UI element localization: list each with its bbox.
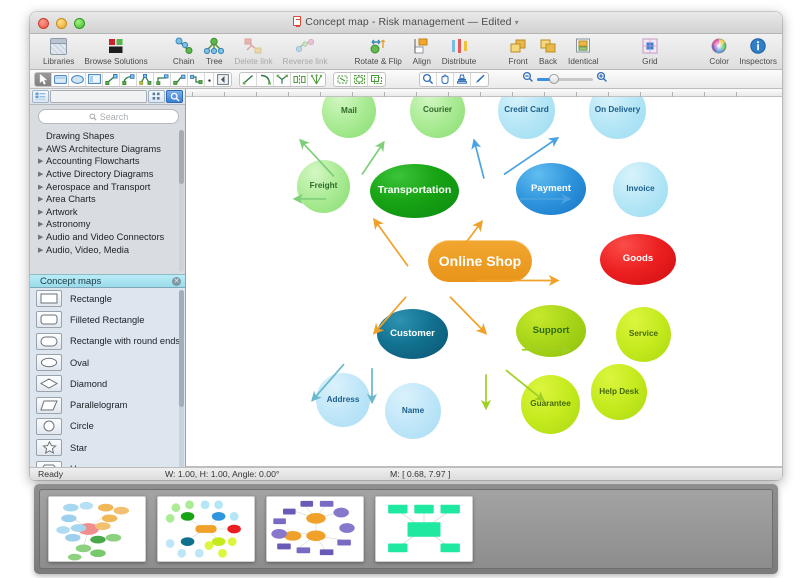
chain-button[interactable]: Chain [168, 36, 199, 66]
chain-icon [174, 36, 194, 56]
color-button[interactable]: Color [704, 36, 734, 66]
document-tray-inner [39, 489, 773, 569]
sidebar-scrollbar[interactable] [179, 130, 184, 272]
library-tree-item[interactable]: ▶Audio, Video, Media [30, 243, 185, 256]
color-wheel-icon [710, 36, 728, 56]
tree-icon [204, 36, 224, 56]
active-library-title: Concept maps [40, 276, 172, 287]
distribute-button[interactable]: Distribute [437, 36, 482, 66]
diagram-node-label: Guarantee [527, 400, 574, 409]
intersect-icon[interactable] [351, 72, 368, 87]
library-tree-item[interactable]: ▶Active Directory Diagrams [30, 168, 185, 181]
send-back-icon [538, 36, 558, 56]
delete-link-icon [243, 36, 263, 56]
shape-list-item-label: Rectangle with round ends [70, 336, 180, 346]
shape-ops-group [333, 72, 386, 87]
toolbar-group-arrange: Rotate & Flip Align [349, 36, 481, 66]
tree-button[interactable]: Tree [199, 36, 229, 66]
magnifier-icon[interactable] [420, 72, 437, 87]
chevron-right-icon[interactable]: ▶ [38, 220, 46, 228]
search-placeholder: Search [100, 112, 129, 122]
send-back-button[interactable]: Back [533, 36, 563, 66]
thumbnail-concept-map-2[interactable] [157, 496, 255, 562]
chevron-right-icon[interactable]: ▶ [38, 233, 46, 241]
chevron-right-icon[interactable]: ▶ [38, 145, 46, 153]
oval-shape-icon [36, 354, 62, 371]
toolbar-group-order: Front Back [503, 36, 604, 66]
close-icon[interactable]: ✕ [172, 277, 181, 286]
diagram-node-label: Help Desk [596, 388, 642, 397]
connector-links [186, 97, 782, 466]
libraries-label: Libraries [43, 57, 74, 66]
chain-label: Chain [173, 57, 194, 66]
thumbnail-concept-map-1[interactable] [48, 496, 146, 562]
status-dimensions: W: 1.00, H: 1.00, Angle: 0.00° [165, 469, 390, 479]
diagram-node-label: Online Shop [436, 254, 524, 269]
screen-root: Concept map - Risk management — Edited▾ … [0, 0, 800, 578]
arc-icon[interactable] [257, 72, 274, 87]
ellipse-tool-icon[interactable] [69, 72, 86, 87]
shapes-sidebar: Search Drawing Shapes▶AWS Architecture D… [30, 89, 186, 480]
browse-solutions-icon [107, 36, 125, 56]
union-icon[interactable] [334, 72, 351, 87]
identical-label: Identical [568, 57, 599, 66]
shape-list-item[interactable]: Parallelogram [30, 394, 185, 415]
status-mouse-coords: M: [ 0.68, 7.97 ] [390, 469, 450, 479]
diagram-node-label: Address [324, 396, 363, 405]
eyedropper-icon[interactable] [471, 72, 488, 87]
library-tree-item-label: Aerospace and Transport [46, 182, 150, 192]
tree-view-icon[interactable] [32, 90, 49, 103]
star-shape-icon [36, 439, 62, 456]
inspectors-button[interactable]: Inspectors [734, 36, 782, 66]
library-tree-item[interactable]: ▶Artwork [30, 206, 185, 219]
status-bar: Ready W: 1.00, H: 1.00, Angle: 0.00° M: … [30, 467, 782, 480]
diamond-shape-icon [36, 375, 62, 392]
application-window: Concept map - Risk management — Edited▾ … [30, 12, 782, 480]
diagram-node-label: Name [399, 407, 427, 416]
reverse-link-label: Reverse link [283, 57, 328, 66]
window-body: Search Drawing Shapes▶AWS Architecture D… [30, 89, 782, 480]
diagram-canvas[interactable]: MailCourierFreightTransportationCredit C… [186, 97, 782, 466]
library-tree-item-label: Astronomy [46, 219, 90, 229]
elbow-connector-icon[interactable] [154, 72, 171, 87]
send-back-label: Back [539, 57, 557, 66]
shape-list-item[interactable]: Oval [30, 352, 185, 373]
chevron-right-icon[interactable]: ▶ [38, 246, 46, 254]
chevron-right-icon[interactable]: ▶ [38, 170, 46, 178]
diagram-node-label: Freight [307, 182, 341, 191]
main-toolbar: Libraries Browse Solutions [30, 34, 782, 70]
browse-solutions-label: Browse Solutions [84, 57, 147, 66]
shape-list-item[interactable]: Diamond [30, 373, 185, 394]
search-icon[interactable] [166, 90, 183, 103]
diagram-node-label: Credit Card [501, 106, 552, 115]
shape-list-item[interactable]: Filleted Rectangle [30, 309, 185, 330]
toolbar-group-grid: Grid [635, 36, 665, 66]
bezier-connector-icon[interactable] [171, 72, 188, 87]
active-library-bar[interactable]: Concept maps ✕ [30, 274, 185, 288]
sidebar-search-wrap: Search [30, 105, 185, 128]
library-tree-item[interactable]: ▶AWS Architecture Diagrams [30, 143, 185, 156]
mirror-icon[interactable] [291, 72, 308, 87]
window-title: Concept map - Risk management — Edited▾ [30, 16, 782, 28]
rotate-flip-label: Rotate & Flip [354, 57, 401, 66]
rectangle-shape-icon [36, 290, 62, 307]
library-tree-item[interactable]: ▶Astronomy [30, 218, 185, 231]
library-tree-item-label: AWS Architecture Diagrams [46, 144, 161, 154]
diagram-node-label: Courier [420, 106, 455, 115]
shapes-scrollbar[interactable] [179, 290, 184, 478]
thumbnail-concept-map-4[interactable] [375, 496, 473, 562]
library-tree-item[interactable]: ▶Area Charts [30, 193, 185, 206]
align-icon [412, 36, 432, 56]
inspectors-label: Inspectors [739, 57, 777, 66]
search-input[interactable]: Search [38, 109, 179, 124]
distribute-label: Distribute [442, 57, 477, 66]
sidebar-path-field[interactable] [50, 90, 147, 103]
branch-icon[interactable] [274, 72, 291, 87]
subtract-icon[interactable] [368, 72, 385, 87]
diagram-node-label: Payment [528, 184, 574, 194]
toolbar-group-utilities: Color Inspectors [704, 36, 782, 66]
table-tool-icon[interactable] [86, 72, 103, 87]
library-tree-item-label: Drawing Shapes [46, 131, 114, 141]
grid-view-icon[interactable] [148, 90, 165, 103]
window-title-text: Concept map - Risk management [305, 16, 464, 28]
bring-front-icon [508, 36, 528, 56]
distribute-icon [449, 36, 469, 56]
delete-link-label: Delete link [234, 57, 272, 66]
bring-front-label: Front [508, 57, 527, 66]
identical-icon [573, 36, 593, 56]
dot-icon[interactable] [205, 72, 214, 87]
shapes-list[interactable]: RectangleFilleted RectangleRectangle wit… [30, 288, 185, 480]
grid-label: Grid [642, 57, 657, 66]
stamp-icon[interactable] [454, 72, 471, 87]
rotate-flip-icon [368, 36, 388, 56]
delete-link-button[interactable]: Delete link [229, 36, 277, 66]
shape-list-item-label: Oval [70, 358, 89, 368]
insert-image-icon[interactable] [214, 72, 231, 87]
libraries-icon [50, 36, 67, 56]
diagram-node-label: Support [530, 326, 573, 336]
library-tree-item-label: Active Directory Diagrams [46, 169, 153, 179]
diagram-node-label: On Delivery [592, 106, 644, 115]
align-button[interactable]: Align [407, 36, 437, 66]
drawing-toolstrip [30, 70, 782, 89]
zoom-slider-track[interactable] [537, 78, 593, 81]
identical-button[interactable]: Identical [563, 36, 604, 66]
shape-list-item-label: Filleted Rectangle [70, 315, 144, 325]
library-tree-item-label: Area Charts [46, 194, 96, 204]
shape-list-item[interactable]: Rectangle with round ends [30, 331, 185, 352]
document-tray [34, 484, 778, 574]
reverse-link-icon [295, 36, 315, 56]
smart-connector-icon[interactable] [188, 72, 205, 87]
reverse-link-button[interactable]: Reverse link [278, 36, 333, 66]
align-label: Align [413, 57, 431, 66]
grid-button[interactable]: Grid [635, 36, 665, 66]
zoom-slider-control[interactable] [522, 70, 608, 88]
hand-icon[interactable] [437, 72, 454, 87]
shapes-list-inner: RectangleFilleted RectangleRectangle wit… [30, 288, 185, 480]
shape-list-item-label: Star [70, 443, 87, 453]
library-tree-item-label: Artwork [46, 207, 78, 217]
chevron-right-icon[interactable]: ▶ [38, 208, 46, 216]
chevron-down-icon[interactable]: ▾ [515, 18, 519, 27]
tree-label: Tree [206, 57, 223, 66]
scatter-icon[interactable] [308, 72, 325, 87]
bring-front-button[interactable]: Front [503, 36, 533, 66]
select-arrow-icon[interactable] [35, 72, 52, 87]
status-state: Ready [30, 469, 165, 479]
curved-connector-icon[interactable] [120, 72, 137, 87]
library-tree-item-label: Audio, Video, Media [46, 245, 129, 255]
straight-connector-icon[interactable] [103, 72, 120, 87]
browse-solutions-button[interactable]: Browse Solutions [79, 36, 152, 66]
shape-list-item[interactable]: Circle [30, 416, 185, 437]
round-ends-rectangle-shape-icon [36, 333, 62, 350]
canvas-area: MailCourierFreightTransportationCredit C… [186, 89, 782, 480]
shape-list-item-label: Circle [70, 421, 94, 431]
diagram-node-label: Service [626, 330, 661, 339]
zoom-out-icon[interactable] [522, 70, 534, 88]
window-title-edited: — Edited [468, 16, 512, 28]
libraries-button[interactable]: Libraries [38, 36, 79, 66]
color-label: Color [709, 57, 729, 66]
chevron-right-icon[interactable]: ▶ [38, 157, 46, 165]
document-badge-icon [293, 16, 301, 26]
diagram-node-label: Invoice [623, 185, 657, 194]
view-tools-group [419, 72, 489, 87]
diagram-node-label: Mail [338, 107, 360, 116]
tree-connector-icon[interactable] [137, 72, 154, 87]
selection-tools-group [34, 72, 232, 87]
horizontal-ruler [186, 89, 782, 97]
info-inspectors-icon [749, 36, 767, 56]
zoom-slider-knob[interactable] [549, 74, 559, 84]
shape-list-item-label: Rectangle [70, 294, 112, 304]
zoom-in-icon[interactable] [596, 70, 608, 88]
library-tree-item-label: Audio and Video Connectors [46, 232, 164, 242]
shape-list-item-label: Diamond [70, 379, 107, 389]
library-tree-item[interactable]: ▶Accounting Flowcharts [30, 155, 185, 168]
diagram-node-label: Customer [387, 329, 438, 339]
chevron-right-icon[interactable]: ▶ [38, 183, 46, 191]
toolbar-group-links: Chain Tree [168, 36, 333, 66]
shape-list-item[interactable]: Rectangle [30, 288, 185, 309]
library-tree-item[interactable]: ▶Aerospace and Transport [30, 180, 185, 193]
diagram-node-label: Transportation [375, 185, 455, 196]
window-titlebar[interactable]: Concept map - Risk management — Edited▾ [30, 12, 782, 34]
rectangle-tool-icon[interactable] [52, 72, 69, 87]
thumbnail-concept-map-3[interactable] [266, 496, 364, 562]
shape-list-item[interactable]: Star [30, 437, 185, 458]
parallelogram-shape-icon [36, 397, 62, 414]
line-icon[interactable] [240, 72, 257, 87]
library-tree-item[interactable]: ▶Audio and Video Connectors [30, 231, 185, 244]
search-glyph-icon [89, 113, 97, 121]
chevron-right-icon[interactable]: ▶ [38, 195, 46, 203]
rotate-flip-button[interactable]: Rotate & Flip [349, 36, 406, 66]
library-tree[interactable]: Drawing Shapes▶AWS Architecture Diagrams… [30, 128, 185, 274]
line-tools-group [239, 72, 326, 87]
toolbar-group-libraries: Libraries Browse Solutions [30, 36, 153, 66]
shape-list-item-label: Parallelogram [70, 400, 127, 410]
library-tree-item-label: Accounting Flowcharts [46, 156, 140, 166]
library-tree-item[interactable]: Drawing Shapes [30, 130, 185, 143]
diagram-node-label: Goods [620, 254, 656, 264]
circle-shape-icon [36, 418, 62, 435]
library-tree-list: Drawing Shapes▶AWS Architecture Diagrams… [30, 128, 185, 256]
filleted-rectangle-shape-icon [36, 311, 62, 328]
sidebar-header [30, 89, 185, 105]
grid-icon [641, 36, 659, 56]
